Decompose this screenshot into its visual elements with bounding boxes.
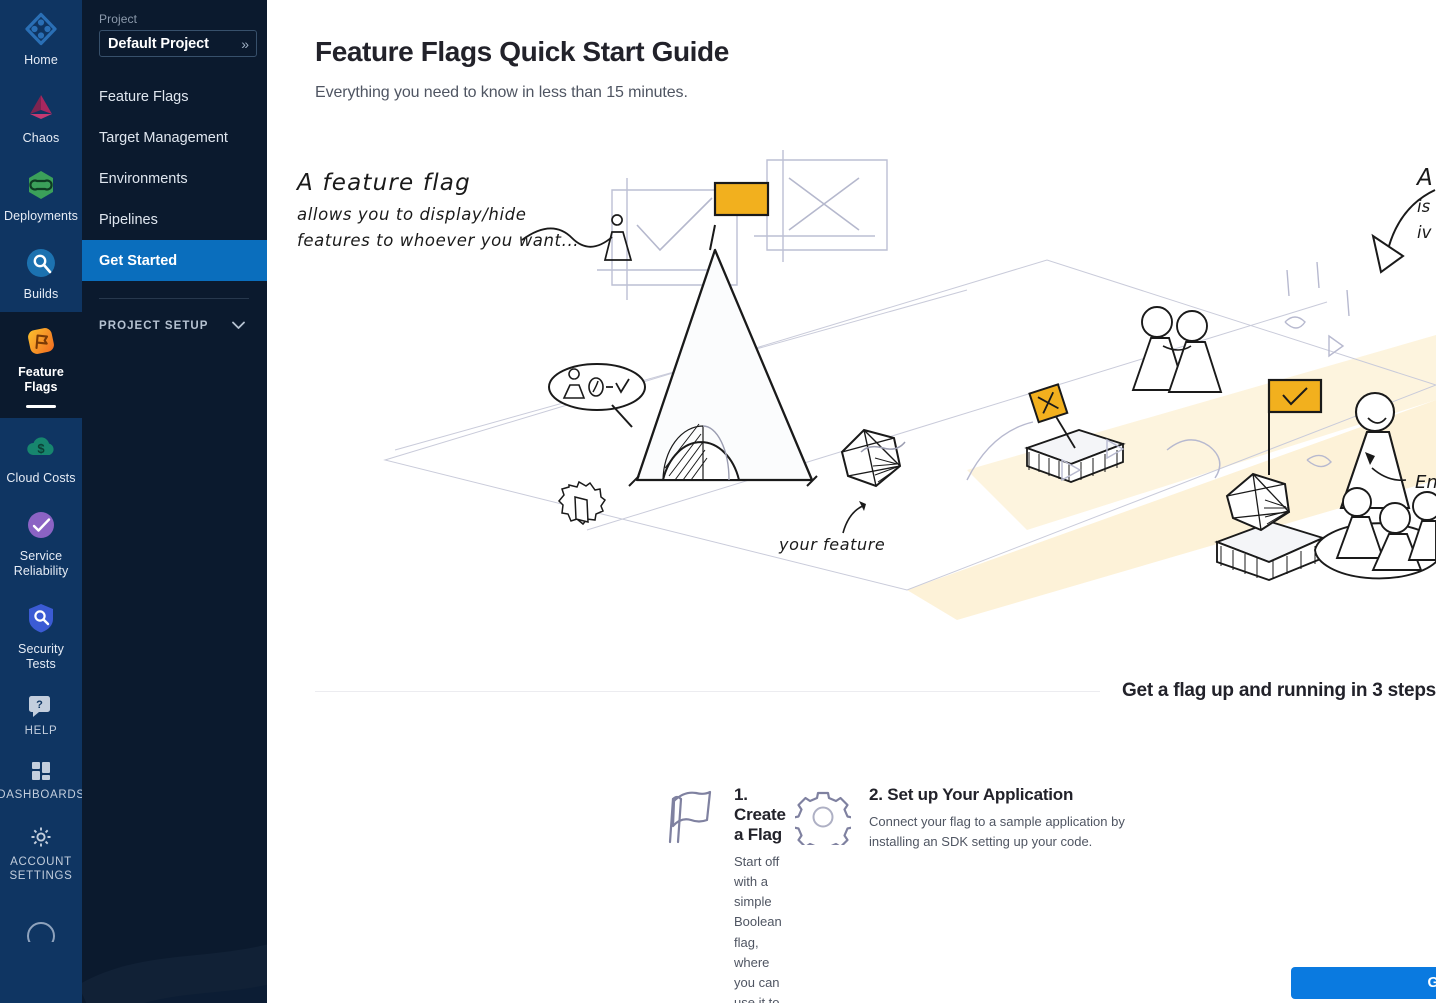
project-selector[interactable]: Default Project » (99, 30, 257, 57)
menu-item-label: Target Management (99, 130, 228, 146)
sidebar-item-feature-flags[interactable]: Feature Flags (0, 312, 82, 418)
svg-text:En: En (1415, 472, 1436, 493)
divider (99, 298, 249, 299)
svg-text:features to whoever you want..: features to whoever you want... (297, 231, 579, 250)
gear-outline-icon (795, 785, 851, 845)
svg-text:is: is (1417, 197, 1431, 216)
sidebar-item-deployments[interactable]: Deployments (0, 156, 82, 234)
sidebar-item-cloud-costs[interactable]: $ Cloud Costs (0, 418, 82, 496)
home-diamond-icon (24, 12, 58, 46)
app-root: Home Chaos Deployments (0, 0, 1436, 1003)
sidebar-item-label: Service Reliability (2, 549, 80, 579)
feature-flags-icon (24, 324, 58, 358)
steps-heading: Get a flag up and running in 3 steps (1122, 680, 1436, 702)
sidebar-item-label: Deployments (4, 209, 78, 224)
menu-item-label: Get Started (99, 253, 177, 269)
step-set-up-your-application: 2. Set up Your Application Connect your … (735, 785, 1150, 1003)
chevron-down-icon (232, 319, 245, 333)
menu-item-label: Pipelines (99, 212, 158, 228)
sidebar-item-label: Chaos (23, 131, 60, 146)
project-name: Default Project (108, 36, 209, 52)
svg-text:?: ? (36, 699, 43, 711)
help-icon: ? (24, 694, 58, 718)
svg-text:A feature flag: A feature flag (295, 170, 471, 196)
project-label: Project (82, 12, 267, 30)
security-tests-icon (24, 601, 58, 635)
sidebar-item-label: Cloud Costs (6, 471, 75, 486)
svg-text:$: $ (37, 441, 45, 456)
primary-sidebar: Home Chaos Deployments (0, 0, 82, 1003)
sidebar-item-builds[interactable]: Builds (0, 234, 82, 312)
project-menu: Feature Flags Target Management Environm… (82, 76, 267, 281)
sidebar-item-label: ACCOUNT SETTINGS (2, 856, 80, 884)
project-setup-section[interactable]: PROJECT SETUP (82, 315, 267, 337)
deployments-icon (24, 168, 58, 202)
gear-icon (24, 825, 58, 849)
sidebar-item-label: Security Tests (2, 642, 80, 672)
dashboards-icon (24, 760, 58, 782)
user-avatar[interactable] (0, 900, 82, 952)
active-indicator (26, 405, 56, 408)
svg-text:A: A (1415, 165, 1433, 191)
chaos-icon (24, 90, 58, 124)
svg-text:your feature: your feature (778, 535, 885, 554)
page-title: Feature Flags Quick Start Guide (315, 36, 729, 68)
sidebar-item-target-management[interactable]: Target Management (82, 117, 267, 158)
project-setup-label: PROJECT SETUP (99, 320, 209, 332)
menu-item-label: Feature Flags (99, 89, 188, 105)
step-create-a-flag: 1. Create a Flag Start off with a simple… (315, 785, 735, 1003)
avatar (24, 912, 58, 942)
step-title: 2. Set up Your Application (869, 785, 1137, 805)
get-started-button[interactable]: Get Started (1291, 967, 1436, 999)
sidebar-item-get-started[interactable]: Get Started (82, 240, 267, 281)
service-reliability-icon (24, 508, 58, 542)
sidebar-item-pipelines[interactable]: Pipelines (82, 199, 267, 240)
flag-watermark-icon (82, 815, 267, 1003)
sidebar-item-help[interactable]: ? HELP (0, 682, 82, 749)
sidebar-item-environments[interactable]: Environments (82, 158, 267, 199)
sidebar-item-feature-flags[interactable]: Feature Flags (82, 76, 267, 117)
sidebar-item-account-settings[interactable]: ACCOUNT SETTINGS (0, 813, 82, 894)
sidebar-item-label: Home (24, 53, 58, 68)
flag-outline-icon (660, 785, 716, 845)
steps-header: Get a flag up and running in 3 steps (315, 680, 1436, 702)
svg-text:allows you to display/hide: allows you to display/hide (297, 205, 527, 224)
sidebar-item-label: DASHBOARDS (0, 789, 82, 803)
sidebar-item-dashboards[interactable]: DASHBOARDS (0, 748, 82, 813)
sidebar-item-label: Builds (24, 287, 59, 302)
sidebar-item-service-reliability[interactable]: Service Reliability (0, 496, 82, 589)
cloud-costs-icon: $ (24, 430, 58, 464)
builds-icon (24, 246, 58, 280)
sidebar-item-chaos[interactable]: Chaos (0, 78, 82, 156)
project-sidebar: Project Default Project » Feature Flags … (82, 0, 267, 1003)
divider (315, 691, 1100, 692)
menu-item-label: Environments (99, 171, 188, 187)
svg-text:iv: iv (1417, 223, 1432, 242)
double-chevron-right-icon: » (241, 37, 249, 51)
step-description: Connect your flag to a sample applicatio… (869, 812, 1137, 852)
sidebar-item-home[interactable]: Home (0, 0, 82, 78)
sidebar-item-security-tests[interactable]: Security Tests (0, 589, 82, 682)
step-text: 2. Set up Your Application Connect your … (869, 785, 1137, 1003)
feature-flag-concept-illustration: A feature flag allows you to display/hid… (267, 150, 1436, 650)
main-content: Feature Flags Quick Start Guide Everythi… (267, 0, 1436, 1003)
sidebar-item-label: HELP (25, 725, 58, 739)
sidebar-item-label: Feature Flags (2, 365, 80, 395)
page-subtitle: Everything you need to know in less than… (315, 84, 688, 102)
steps-list: 1. Create a Flag Start off with a simple… (315, 785, 1436, 1003)
